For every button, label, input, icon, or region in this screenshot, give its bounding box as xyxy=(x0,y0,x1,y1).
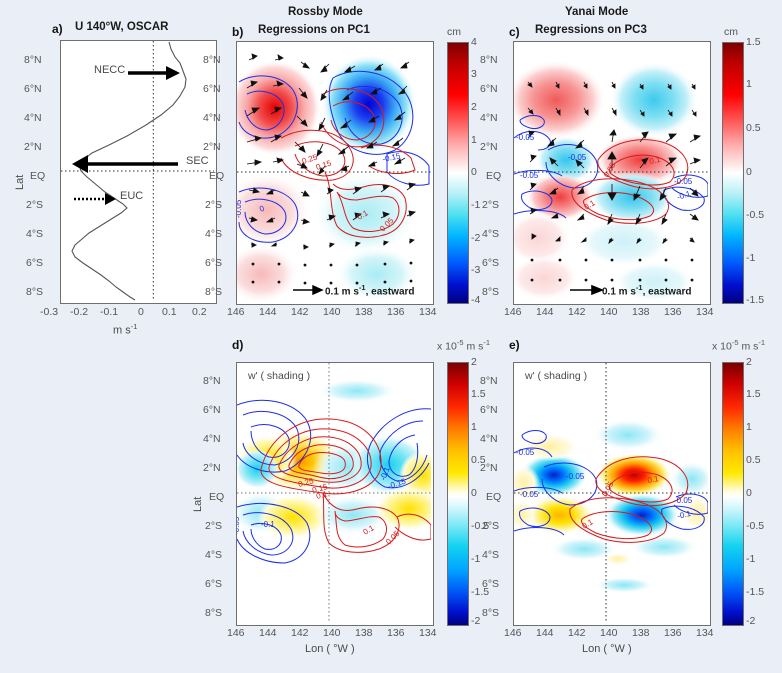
panel-b-title: Regressions on PC1 xyxy=(258,24,370,36)
panel-e-axes: -0.05 -0.05 -0.05 0.05 0.1 0.1 -0.05 -0.… xyxy=(513,362,711,626)
svg-text:-0.05: -0.05 xyxy=(516,133,535,142)
panel-d-axes: 0.25 0.15 0.1 -0.1 -0.15 -0.05 -0.1 0.1 … xyxy=(236,362,434,626)
panel-d-xtick-4: 138 xyxy=(355,627,373,639)
panel-c-vector-legend-tail: , eastward xyxy=(643,286,692,297)
panel-a-ytick-6: 4°S xyxy=(26,228,43,240)
svg-text:-0.05: -0.05 xyxy=(674,496,693,505)
panel-e-ytick-2: 4°N xyxy=(480,433,498,445)
panel-e-cbtick-6: -1 xyxy=(746,553,755,565)
panel-e-cbtick-1: 1.5 xyxy=(746,388,761,400)
panel-c-plot: -0.05 -0.05 -0.05 0.05 0.1 0.1 -0.05 -0.… xyxy=(514,42,708,302)
panel-b-ytick-7: 6°S xyxy=(205,257,222,269)
necc-arrow-icon xyxy=(128,66,180,80)
panel-b-ytick-3: 2°N xyxy=(203,141,221,153)
panel-c-xtick-4: 138 xyxy=(632,306,650,318)
panel-c-xtick-1: 144 xyxy=(536,306,554,318)
panel-e-cbtick-2: 1 xyxy=(746,421,752,433)
panel-b-cbtick-4: 0 xyxy=(471,166,477,178)
panel-d-cbu-post-exp: -1 xyxy=(483,338,490,347)
panel-d-ytick-3: 2°N xyxy=(203,462,221,474)
panel-e-cbtick-4: 0 xyxy=(746,487,752,499)
panel-c-cbtick-6: -1.5 xyxy=(746,294,764,306)
panel-a-annotation-euc: EUC xyxy=(120,190,143,202)
panel-b-ytick-6: 4°S xyxy=(205,228,222,240)
panel-b-xtick-0: 146 xyxy=(227,306,245,318)
panel-d-ytick-2: 4°N xyxy=(203,433,221,445)
panel-a-ytick-0: 8°N xyxy=(24,54,42,66)
panel-d-xtick-6: 134 xyxy=(419,627,437,639)
panel-c-cbtick-0: 1.5 xyxy=(746,36,761,48)
panel-e-xtick-0: 146 xyxy=(504,627,522,639)
panel-e-xlabel: Lon ( °W ) xyxy=(582,643,632,655)
panel-b-plot: 0.25 0.15 -0.15 -0.05 0 0.1 0.05 xyxy=(237,42,431,302)
panel-c-colorbar xyxy=(722,42,744,304)
panel-d-cbu-exp: -5 xyxy=(457,338,464,347)
panel-a-xlabel: m s-1 xyxy=(113,322,137,337)
panel-c-ytick-4: EQ xyxy=(486,170,501,182)
panel-a-xtick-5: 0.2 xyxy=(192,306,207,318)
panel-d-plot: 0.25 0.15 0.1 -0.1 -0.15 -0.05 -0.1 0.1 … xyxy=(237,363,431,623)
svg-text:-0.05: -0.05 xyxy=(520,490,539,499)
panel-c-ytick-8: 8°S xyxy=(482,286,499,298)
panel-d-xtick-1: 144 xyxy=(259,627,277,639)
panel-d-cbtick-4: 0 xyxy=(471,487,477,499)
panel-d-ytick-7: 6°S xyxy=(205,578,222,590)
panel-b-cbtick-2: 2 xyxy=(471,101,477,113)
svg-text:-0.05: -0.05 xyxy=(568,153,587,162)
panel-b-xtick-6: 134 xyxy=(419,306,437,318)
panel-a-xlabel-exp: -1 xyxy=(131,322,138,331)
panel-d-ytick-8: 8°S xyxy=(205,607,222,619)
panel-c-ytick-3: 2°N xyxy=(480,141,498,153)
panel-e-cbtick-5: -0.5 xyxy=(746,520,764,532)
panel-e-cbu-exp: -5 xyxy=(732,338,739,347)
panel-b-ytick-1: 6°N xyxy=(203,83,221,95)
panel-e-cbu-post-exp: -1 xyxy=(758,338,765,347)
panel-c-ytick-2: 4°N xyxy=(480,112,498,124)
panel-e-colorbar-unit: x 10-5 m s-1 xyxy=(712,338,765,353)
panel-d-cbu-post: m s xyxy=(464,341,484,353)
panel-e-xtick-3: 140 xyxy=(600,627,618,639)
panel-c-vector-legend-exp: -1 xyxy=(636,283,643,292)
svg-text:-0.05: -0.05 xyxy=(237,516,241,535)
panel-e-plot: -0.05 -0.05 -0.05 0.05 0.1 0.1 -0.05 -0.… xyxy=(514,363,708,623)
panel-c-axes: -0.05 -0.05 -0.05 0.05 0.1 0.1 -0.05 -0.… xyxy=(513,41,711,305)
panel-c-letter: c) xyxy=(509,25,520,39)
sec-arrow-icon xyxy=(72,155,178,173)
panel-c-ytick-6: 4°S xyxy=(482,228,499,240)
panel-b-ytick-0: 8°N xyxy=(203,54,221,66)
panel-d-ytick-4: EQ xyxy=(209,491,224,503)
panel-d-ytick-0: 8°N xyxy=(203,375,221,387)
panel-d-inset-label: w' ( shading ) xyxy=(248,370,310,382)
panel-d-xtick-2: 142 xyxy=(291,627,309,639)
panel-e-ytick-0: 8°N xyxy=(480,375,498,387)
panel-d-ylabel: Lat xyxy=(192,497,204,512)
panel-c-vector-legend: 0.1 m s-1, eastward xyxy=(602,283,692,297)
panel-e-cbtick-0: 2 xyxy=(746,356,752,368)
panel-a-xtick-0: -0.3 xyxy=(40,306,58,318)
panel-e-ytick-1: 6°N xyxy=(480,404,498,416)
panel-c-ytick-5: 2°S xyxy=(482,199,499,211)
panel-d-xtick-3: 140 xyxy=(323,627,341,639)
panel-b-axes: 0.25 0.15 -0.15 -0.05 0 0.1 0.05 xyxy=(236,41,434,305)
panel-c-cbtick-5: -1 xyxy=(746,252,755,264)
panel-a-xtick-3: 0 xyxy=(138,306,144,318)
panel-a-annotation-sec: SEC xyxy=(186,155,209,167)
panel-e-ytick-3: 2°N xyxy=(480,462,498,474)
panel-c-vector-legend-val: 0.1 m s xyxy=(602,286,636,297)
panel-e-xtick-6: 134 xyxy=(696,627,714,639)
panel-d-cbtick-8: -2 xyxy=(471,615,480,627)
panel-d-ylabel-wrap: Lat xyxy=(192,512,207,524)
panel-a-xtick-1: -0.2 xyxy=(70,306,88,318)
panel-b-ytick-8: 8°S xyxy=(205,286,222,298)
panel-d-cbtick-0: 2 xyxy=(471,356,477,368)
panel-b-vector-legend-exp: -1 xyxy=(359,283,366,292)
panel-e-ytick-6: 4°S xyxy=(482,549,499,561)
panel-b-colorbar-unit: cm xyxy=(447,26,461,38)
svg-text:-0.05: -0.05 xyxy=(516,448,535,457)
panel-b-cbtick-3: 1 xyxy=(471,134,477,146)
panel-a-ytick-4: EQ xyxy=(30,170,45,182)
panel-e-ytick-5: 2°S xyxy=(482,520,499,532)
panel-b-xtick-4: 138 xyxy=(355,306,373,318)
panel-d-colorbar-unit: x 10-5 m s-1 xyxy=(437,338,490,353)
panel-b-ytick-5: 2°S xyxy=(205,199,222,211)
panel-b-letter: b) xyxy=(232,25,243,39)
panel-a-title: U 140°W, OSCAR xyxy=(75,21,168,33)
panel-d-xtick-5: 136 xyxy=(387,627,405,639)
panel-d-cbtick-1: 1.5 xyxy=(471,388,486,400)
panel-e-cbtick-3: 0.5 xyxy=(746,454,761,466)
panel-a-letter: a) xyxy=(52,22,63,36)
panel-b-xtick-1: 144 xyxy=(259,306,277,318)
panel-b-cbtick-0: 4 xyxy=(471,36,477,48)
panel-c-colorbar-unit: cm xyxy=(724,26,738,38)
panel-b-xtick-3: 140 xyxy=(323,306,341,318)
svg-text:-0.05: -0.05 xyxy=(674,177,693,186)
panel-e-xtick-4: 138 xyxy=(632,627,650,639)
panel-a-ytick-3: 2°N xyxy=(24,141,42,153)
panel-a-ytick-1: 6°N xyxy=(24,83,42,95)
panel-b-xtick-5: 136 xyxy=(387,306,405,318)
panel-b-vector-legend-val: 0.1 m s xyxy=(325,286,359,297)
panel-c-xtick-2: 142 xyxy=(568,306,586,318)
panel-b-vector-legend-tail: , eastward xyxy=(366,286,415,297)
panel-d-ytick-5: 2°S xyxy=(205,520,222,532)
panel-a-ylabel-wrap: Lat xyxy=(14,190,29,202)
panel-c-title: Regressions on PC3 xyxy=(535,24,647,36)
panel-a-xtick-2: -0.1 xyxy=(100,306,118,318)
panel-b-cbtick-6: -2 xyxy=(471,232,480,244)
panel-e-inset-label: w' ( shading ) xyxy=(525,370,587,382)
panel-d-colorbar xyxy=(447,362,469,626)
panel-b-colorbar xyxy=(447,42,469,304)
panel-c-ytick-7: 6°S xyxy=(482,257,499,269)
panel-c-cbtick-1: 1 xyxy=(746,78,752,90)
panel-e-xtick-5: 136 xyxy=(664,627,682,639)
panel-c-xtick-0: 146 xyxy=(504,306,522,318)
panel-b-cbtick-1: 3 xyxy=(471,68,477,80)
panel-a-xtick-4: 0.1 xyxy=(162,306,177,318)
panel-b-cbtick-5: -1 xyxy=(471,199,480,211)
panel-e-ytick-4: EQ xyxy=(486,491,501,503)
panel-b-cbtick-8: -4 xyxy=(471,294,480,306)
panel-c-cbtick-3: 0 xyxy=(746,166,752,178)
panel-b-supertitle: Rossby Mode xyxy=(288,6,363,18)
panel-a-ytick-8: 8°S xyxy=(26,286,43,298)
euc-arrow-icon xyxy=(74,193,116,205)
panel-a-ytick-2: 4°N xyxy=(24,112,42,124)
panel-d-ytick-6: 4°S xyxy=(205,549,222,561)
panel-e-xtick-1: 144 xyxy=(536,627,554,639)
svg-text:-0.1: -0.1 xyxy=(261,520,275,529)
panel-e-xtick-2: 142 xyxy=(568,627,586,639)
panel-d-cbu-pre: x 10 xyxy=(437,341,457,353)
panel-c-cbtick-4: -0.5 xyxy=(746,209,764,221)
panel-e-ytick-8: 8°S xyxy=(482,607,499,619)
panel-e-letter: e) xyxy=(509,338,520,352)
svg-text:-0.05: -0.05 xyxy=(237,199,243,218)
panel-b-vector-legend: 0.1 m s-1, eastward xyxy=(325,283,415,297)
panel-c-supertitle: Yanai Mode xyxy=(565,6,628,18)
panel-c-ytick-1: 6°N xyxy=(480,83,498,95)
panel-d-letter: d) xyxy=(232,338,243,352)
panel-e-ytick-7: 6°S xyxy=(482,578,499,590)
panel-e-cbu-post: m s xyxy=(739,341,759,353)
panel-a-annotations xyxy=(60,40,215,302)
panel-a-xlabel-text: m s xyxy=(113,325,131,337)
panel-b-xtick-2: 142 xyxy=(291,306,309,318)
panel-b-cbtick-7: -3 xyxy=(471,264,480,276)
panel-d-cbtick-6: -1 xyxy=(471,553,480,565)
svg-text:-0.05: -0.05 xyxy=(566,472,585,481)
panel-e-cbtick-8: -2 xyxy=(746,615,755,627)
panel-a-ylabel: Lat xyxy=(14,175,26,190)
panel-c-cbtick-2: 0.5 xyxy=(746,122,761,134)
figure-canvas: a) U 140°W, OSCAR 8°N 6°N 4°N 2°N EQ 2°S… xyxy=(0,0,782,673)
panel-b-ytick-2: 4°N xyxy=(203,112,221,124)
panel-a-annotation-necc: NECC xyxy=(94,64,125,76)
panel-c-xtick-5: 136 xyxy=(664,306,682,318)
panel-d-xtick-0: 146 xyxy=(227,627,245,639)
panel-e-colorbar xyxy=(722,362,744,626)
panel-c-ytick-0: 8°N xyxy=(480,54,498,66)
panel-e-cbu-pre: x 10 xyxy=(712,341,732,353)
panel-d-ytick-1: 6°N xyxy=(203,404,221,416)
svg-text:-0.05: -0.05 xyxy=(520,171,539,180)
panel-e-cbtick-7: -1.5 xyxy=(746,586,764,598)
panel-a-ytick-7: 6°S xyxy=(26,257,43,269)
panel-d-xlabel: Lon ( °W ) xyxy=(305,643,355,655)
panel-d-cbtick-2: 1 xyxy=(471,421,477,433)
panel-b-ytick-4: EQ xyxy=(209,170,224,182)
panel-c-xtick-6: 134 xyxy=(696,306,714,318)
panel-c-xtick-3: 140 xyxy=(600,306,618,318)
